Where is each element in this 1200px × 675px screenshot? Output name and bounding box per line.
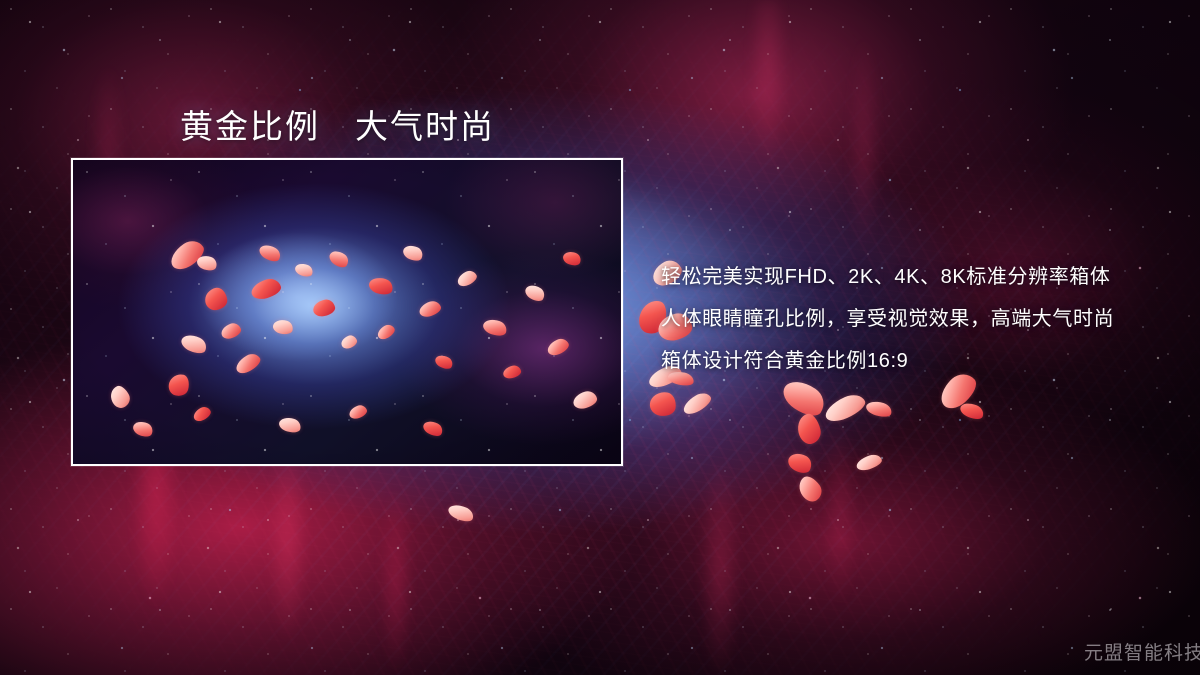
body-line-1: 轻松完美实现FHD、2K、4K、8K标准分辨率箱体	[661, 256, 1161, 298]
body-line-2: 人体眼睛瞳孔比例，享受视觉效果，高端大气时尚	[661, 298, 1161, 340]
body-copy-block: 轻松完美实现FHD、2K、4K、8K标准分辨率箱体 人体眼睛瞳孔比例，享受视觉效…	[661, 256, 1161, 382]
photo-starfield	[73, 160, 621, 464]
page-title: 黄金比例 大气时尚	[180, 100, 495, 148]
framed-photo[interactable]	[71, 158, 623, 466]
watermark: 元盟智能科技	[1084, 638, 1200, 665]
body-line-3: 箱体设计符合黄金比例16:9	[661, 340, 1161, 382]
slide-canvas: 黄金比例 大气时尚 轻松完美实现FHD、2K、4K、8K标准分辨率箱体 人体眼睛…	[0, 0, 1200, 675]
